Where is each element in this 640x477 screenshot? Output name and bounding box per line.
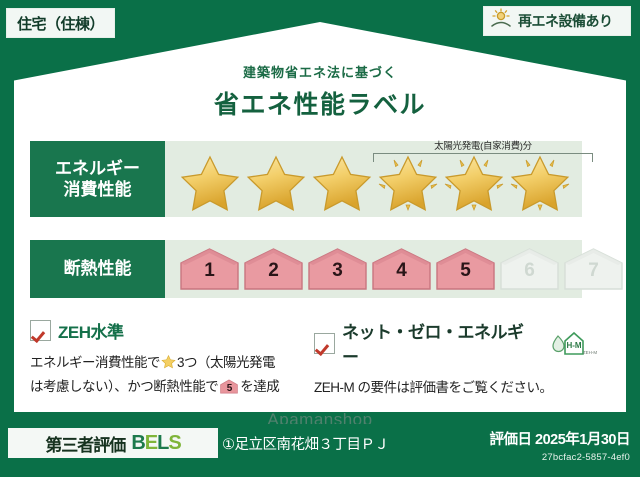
star-rating <box>179 153 571 211</box>
star-6 <box>509 153 571 211</box>
insulation-block-1: 1 <box>179 247 240 291</box>
bels-en-label: BELS <box>131 432 180 455</box>
claim-zeh-text-3: は考慮しない）、かつ断熱性能で <box>30 379 218 394</box>
star-icon-inline <box>161 354 176 376</box>
claim-nze-text: ZEH-M の要件は評価書をご覧ください。 <box>314 380 553 395</box>
insulation-block-2: 2 <box>243 247 304 291</box>
insulation-block-4: 4 <box>371 247 432 291</box>
insulation-performance-label: 断熱性能 <box>30 240 165 298</box>
renewable-energy-badge: 再エネ設備あり <box>483 6 631 36</box>
building-type-badge: 住宅（住棟） <box>6 8 115 38</box>
energy-performance-body: 太陽光発電(自家消費)分 <box>165 141 582 217</box>
claim-zeh-body: エネルギー消費性能で3つ（太陽光発電 は考慮しない）、かつ断熱性能で5を達成 <box>30 352 314 399</box>
insulation-performance-row: 断熱性能 1234567 <box>30 240 582 298</box>
evaluation-date: 評価日 2025年1月30日 <box>490 428 630 449</box>
grade-badge-inline: 5 <box>220 379 238 394</box>
insulation-block-label: 6 <box>499 260 560 282</box>
insulation-block-label: 7 <box>563 260 624 282</box>
building-type-label: 住宅（住棟） <box>17 13 104 34</box>
claim-zeh-level: ZEH水準 エネルギー消費性能で3つ（太陽光発電 は考慮しない）、かつ断熱性能で… <box>30 318 314 399</box>
footer: 第三者評価 BELS ①足立区南花畑３丁目ＰＪ 評価日 2025年1月30日 2… <box>0 424 640 477</box>
claim-zeh-text-2: 3つ（太陽光発電 <box>177 355 275 370</box>
evaluation-info: 評価日 2025年1月30日 27bcfac2-5857-4ef0 <box>490 428 630 463</box>
claim-zeh-header: ZEH水準 <box>30 318 314 343</box>
renewable-energy-label: 再エネ設備あり <box>518 11 613 31</box>
bels-badge: 第三者評価 BELS <box>8 428 218 458</box>
insulation-block-3: 3 <box>307 247 368 291</box>
insulation-block-7: 7 <box>563 247 624 291</box>
insulation-performance-body: 1234567 <box>165 240 582 298</box>
claim-nze-body: ZEH-M の要件は評価書をご覧ください。 <box>314 377 598 399</box>
insulation-block-label: 3 <box>307 260 368 282</box>
label-title: 省エネ性能ラベル <box>14 85 626 121</box>
label-subtitle: 建築物省エネ法に基づく <box>14 62 626 81</box>
record-id: 27bcfac2-5857-4ef0 <box>490 452 630 463</box>
checkbox-checked-icon <box>314 333 335 354</box>
star-2 <box>245 153 307 211</box>
insulation-block-label: 4 <box>371 260 432 282</box>
claim-zeh-text-1: エネルギー消費性能で <box>30 355 160 370</box>
insulation-block-label: 1 <box>179 260 240 282</box>
svg-text:ZEH-M: ZEH-M <box>583 350 597 355</box>
label-canvas: 住宅（住棟） 再エネ設備あり 建築物省エネ法に基づく 省エネ性能ラベル <box>0 0 640 477</box>
claims-section: ZEH水準 エネルギー消費性能で3つ（太陽光発電 は考慮しない）、かつ断熱性能で… <box>30 318 598 399</box>
solar-annotation-label: 太陽光発電(自家消費)分 <box>373 138 593 152</box>
claim-zeh-title: ZEH水準 <box>58 318 124 343</box>
insulation-grade-blocks: 1234567 <box>179 247 624 291</box>
sun-solar-icon <box>490 8 514 35</box>
energy-performance-row: エネルギー 消費性能 太陽光発電(自家消費)分 <box>30 141 582 217</box>
star-4 <box>377 153 439 211</box>
star-1 <box>179 153 241 211</box>
title-block: 建築物省エネ法に基づく 省エネ性能ラベル <box>14 62 626 121</box>
insulation-block-label: 5 <box>435 260 496 282</box>
claim-zeh-text-4: を達成 <box>240 379 279 394</box>
claim-nze-header: ネット・ゼロ・エネルギー H-M ZEH-M <box>314 318 598 368</box>
insulation-block-5: 5 <box>435 247 496 291</box>
svg-text:H-M: H-M <box>566 341 581 350</box>
claim-nze-title: ネット・ゼロ・エネルギー <box>342 318 539 368</box>
insulation-block-label: 2 <box>243 260 304 282</box>
claim-net-zero-energy: ネット・ゼロ・エネルギー H-M ZEH-M ZEH-M の要件は評価書をご覧く… <box>314 318 598 399</box>
bels-jp-label: 第三者評価 <box>45 431 125 456</box>
star-3 <box>311 153 373 211</box>
property-address: ①足立区南花畑３丁目ＰＪ <box>222 433 389 454</box>
energy-performance-label: エネルギー 消費性能 <box>30 141 165 217</box>
star-5 <box>443 153 505 211</box>
zeh-m-house-logo: H-M ZEH-M <box>548 328 598 358</box>
insulation-block-6: 6 <box>499 247 560 291</box>
checkbox-checked-icon <box>30 320 51 341</box>
